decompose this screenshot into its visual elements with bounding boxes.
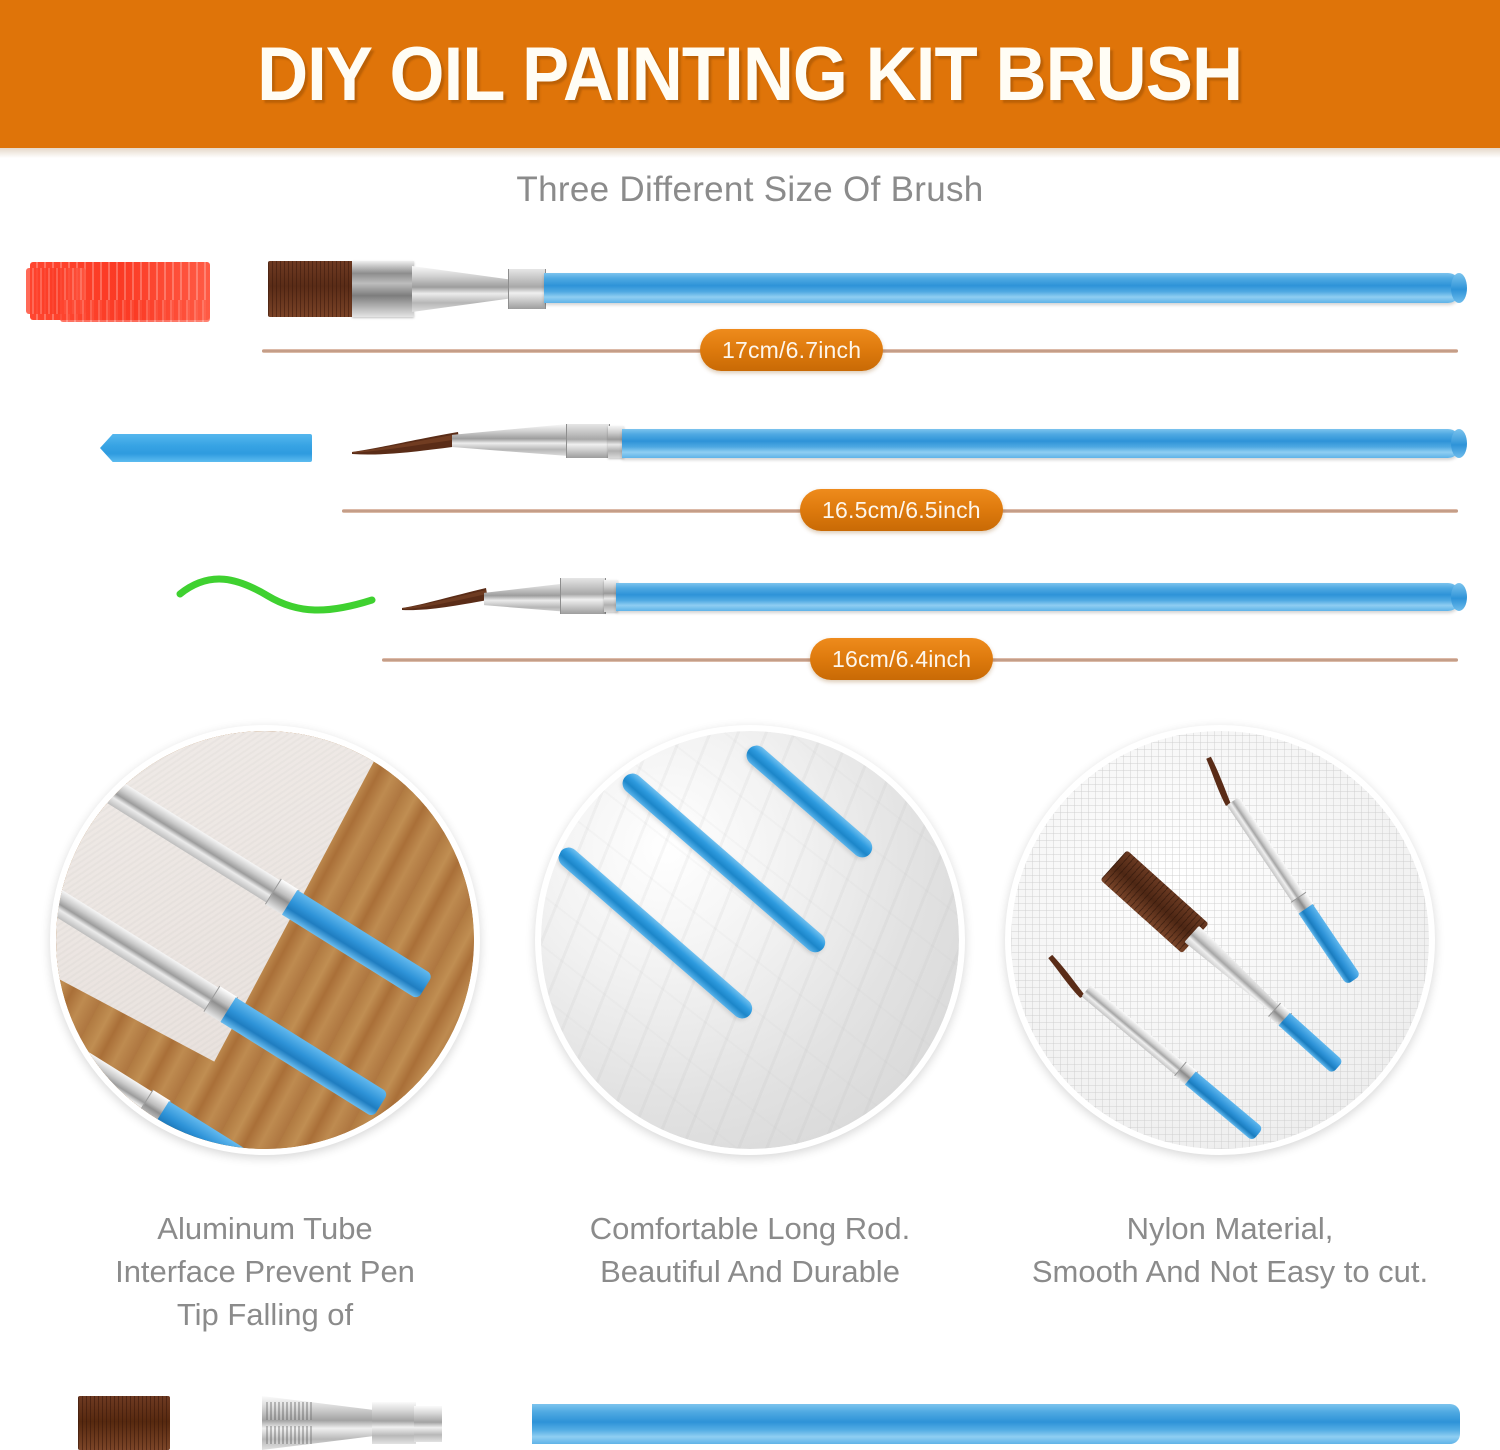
infographic-page: DIY OIL PAINTING KIT BRUSH Three Differe… (0, 0, 1500, 1450)
banner-shadow (0, 148, 1500, 158)
feature-image-nylon (1005, 725, 1435, 1155)
green-squiggle-swatch (176, 574, 376, 620)
feature-caption-nylon: Nylon Material, Smooth And Not Easy to c… (1000, 1208, 1460, 1294)
size-badge-detail: 16cm/6.4inch (810, 638, 993, 680)
detail-bristle-tip (400, 582, 490, 620)
round-ferrule-band (566, 424, 610, 458)
marble-background (541, 731, 959, 1149)
size-badge-round: 16.5cm/6.5inch (800, 489, 1003, 531)
caption-3-line-2: Smooth And Not Easy to cut. (1000, 1251, 1460, 1294)
bottom-ferrule-texture-2 (266, 1426, 312, 1444)
feature-image-2-inner (541, 731, 959, 1149)
round-ferrule-taper (452, 424, 568, 456)
round-brush-handle (622, 429, 1460, 458)
page-title: DIY OIL PAINTING KIT BRUSH (257, 31, 1242, 118)
caption-1-line-1: Aluminum Tube (40, 1208, 490, 1251)
feature-caption-long-rod: Comfortable Long Rod. Beautiful And Dura… (525, 1208, 975, 1294)
header-banner: DIY OIL PAINTING KIT BRUSH (0, 0, 1500, 148)
flat-brush-handle (544, 273, 1460, 303)
feature-image-3-inner (1011, 731, 1429, 1149)
detail-brush-handle (616, 583, 1460, 611)
caption-1-line-3: Tip Falling of (40, 1294, 490, 1337)
subtitle: Three Different Size Of Brush (0, 170, 1500, 210)
round-bristle-tip (350, 424, 462, 468)
red-paint-swatch-streak (60, 300, 210, 322)
detail-ferrule-band (560, 578, 606, 614)
bottom-ferrule-band (372, 1402, 416, 1444)
bottom-ferrule-collar (414, 1406, 442, 1442)
caption-2-line-2: Beautiful And Durable (525, 1251, 975, 1294)
bottom-blue-handle (532, 1404, 1460, 1444)
feature-caption-aluminum-tube: Aluminum Tube Interface Prevent Pen Tip … (40, 1208, 490, 1336)
flat-ferrule-taper (412, 266, 512, 312)
flat-ferrule-band (508, 269, 546, 309)
bottom-bristle-head (78, 1396, 170, 1450)
feature-image-long-rod (535, 725, 965, 1155)
blue-rod-swatch (100, 434, 312, 462)
caption-1-line-2: Interface Prevent Pen (40, 1251, 490, 1294)
feature-image-1-inner (56, 731, 474, 1149)
feature-image-aluminum-tube (50, 725, 480, 1155)
bottom-ferrule-texture-1 (266, 1402, 312, 1420)
size-badge-flat: 17cm/6.7inch (700, 329, 883, 371)
flat-ferrule (352, 261, 414, 317)
caption-2-line-1: Comfortable Long Rod. (525, 1208, 975, 1251)
caption-3-line-1: Nylon Material, (1000, 1208, 1460, 1251)
flat-bristle-head (268, 261, 354, 317)
